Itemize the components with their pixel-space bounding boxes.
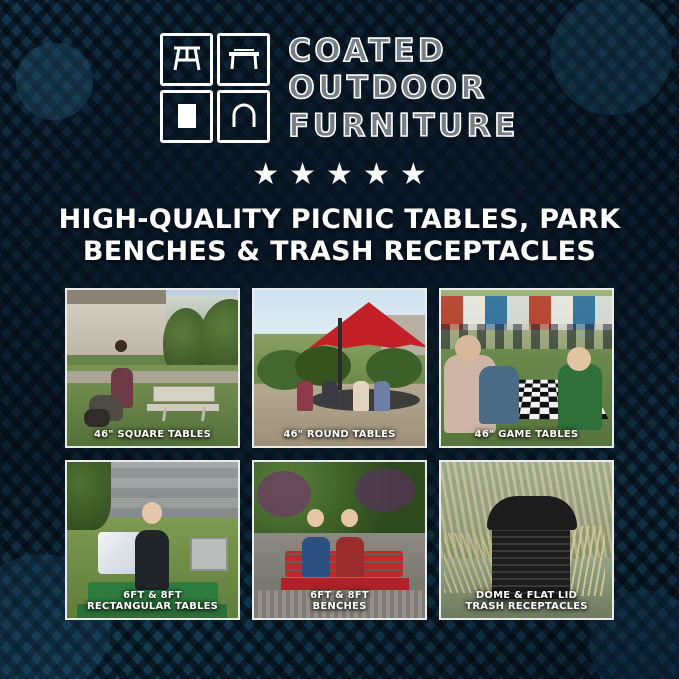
product-poster: COATED OUTDOOR FURNITURE ★ ★ ★ ★ ★ HIGH-… [0,0,679,679]
star-icon-2: ★ [289,160,316,190]
product-caption: 46" ROUND TABLES [254,425,425,446]
product-caption: 6FT & 8FT RECTANGULAR TABLES [67,586,238,618]
headline-line-1: HIGH-QUALITY PICNIC TABLES, PARK [59,204,621,235]
product-caption-line-1: 6FT & 8FT [310,590,369,601]
product-tile-round-tables: 46" ROUND TABLES [252,288,427,448]
product-tile-trash-receptacles: DOME & FLAT LID TRASH RECEPTACLES [439,460,614,620]
picnic-table-icon [160,33,213,86]
photo-square-tables [67,290,238,446]
product-tile-rectangular-tables: 6FT & 8FT RECTANGULAR TABLES [65,460,240,620]
product-caption-line-2: TRASH RECEPTACLES [465,601,587,612]
star-icon-4: ★ [363,160,390,190]
logo-icon-grid [160,33,270,143]
brand-wordmark: COATED OUTDOOR FURNITURE [288,32,519,144]
product-caption-line-2: BENCHES [313,601,367,612]
brand-line-2: OUTDOOR [288,71,519,106]
star-icon-1: ★ [252,160,279,190]
product-caption-line-1: DOME & FLAT LID [476,590,577,601]
product-tile-square-tables: 46" SQUARE TABLES [65,288,240,448]
product-caption: 46" SQUARE TABLES [67,425,238,446]
product-caption: 46" GAME TABLES [441,425,612,446]
bench-icon [217,33,270,86]
brand-logo: COATED OUTDOOR FURNITURE [160,32,519,144]
star-icon-5: ★ [400,160,427,190]
star-rating: ★ ★ ★ ★ ★ [252,160,427,190]
photo-round-tables [254,290,425,446]
dome-lid-trash-can-icon [217,90,270,143]
product-caption: 6FT & 8FT BENCHES [254,586,425,618]
product-caption-line-1: 6FT & 8FT [123,590,182,601]
star-icon-3: ★ [326,160,353,190]
product-caption-line-2: RECTANGULAR TABLES [87,601,218,612]
brand-line-1: COATED [288,34,519,69]
product-grid: 46" SQUARE TABLES 46" ROUND TABLES [65,288,614,620]
headline-line-2: BENCHES & TRASH RECEPTACLES [59,236,621,268]
photo-game-tables [441,290,612,446]
product-caption: DOME & FLAT LID TRASH RECEPTACLES [441,586,612,618]
flat-lid-trash-can-icon [160,90,213,143]
product-tile-game-tables: 46" GAME TABLES [439,288,614,448]
headline: HIGH-QUALITY PICNIC TABLES, PARK BENCHES… [59,204,621,268]
brand-line-3: FURNITURE [288,109,519,144]
product-tile-benches: 6FT & 8FT BENCHES [252,460,427,620]
